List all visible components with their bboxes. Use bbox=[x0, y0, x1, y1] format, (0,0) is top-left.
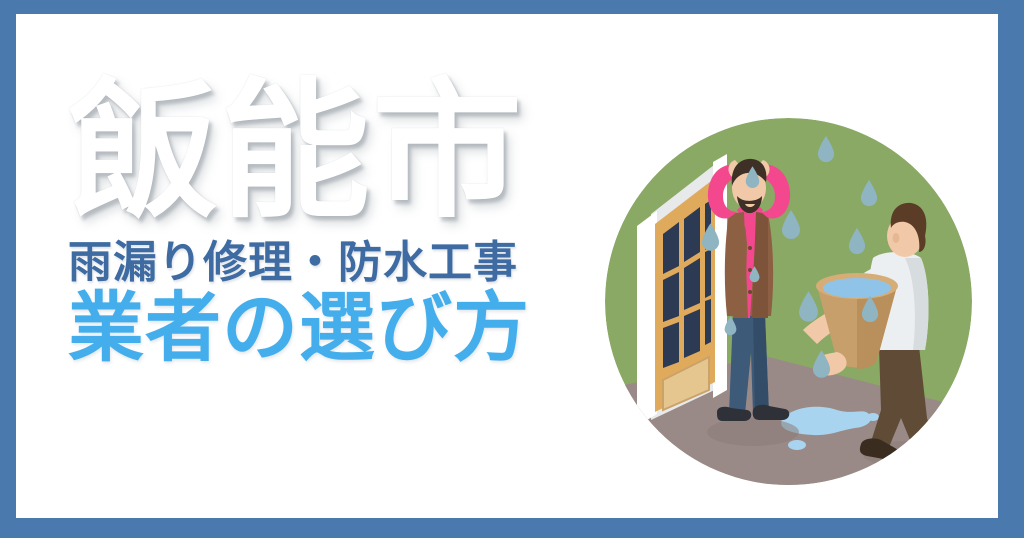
subtitle-service: 雨漏り修理・防水工事 bbox=[68, 240, 614, 286]
headline-group: 飯能市 雨漏り修理・防水工事 業者の選び方 bbox=[54, 76, 614, 368]
man2-ear bbox=[893, 233, 900, 243]
inner-white-canvas: 飯能市 雨漏り修理・防水工事 業者の選び方 bbox=[16, 14, 998, 518]
banner-image: 飯能市 雨漏り修理・防水工事 業者の選び方 bbox=[0, 0, 1024, 538]
door-frame-left bbox=[637, 211, 657, 426]
scene-clip-group bbox=[605, 118, 972, 485]
leaking-roof-illustration bbox=[605, 118, 972, 485]
subtitle-howto: 業者の選び方 bbox=[68, 290, 614, 368]
page-title: 飯能市 bbox=[54, 76, 614, 226]
man2-shoe-back bbox=[914, 450, 954, 470]
bucket-water bbox=[823, 278, 891, 298]
man1-shadow bbox=[707, 418, 799, 446]
leaking-roof-svg bbox=[605, 118, 972, 485]
